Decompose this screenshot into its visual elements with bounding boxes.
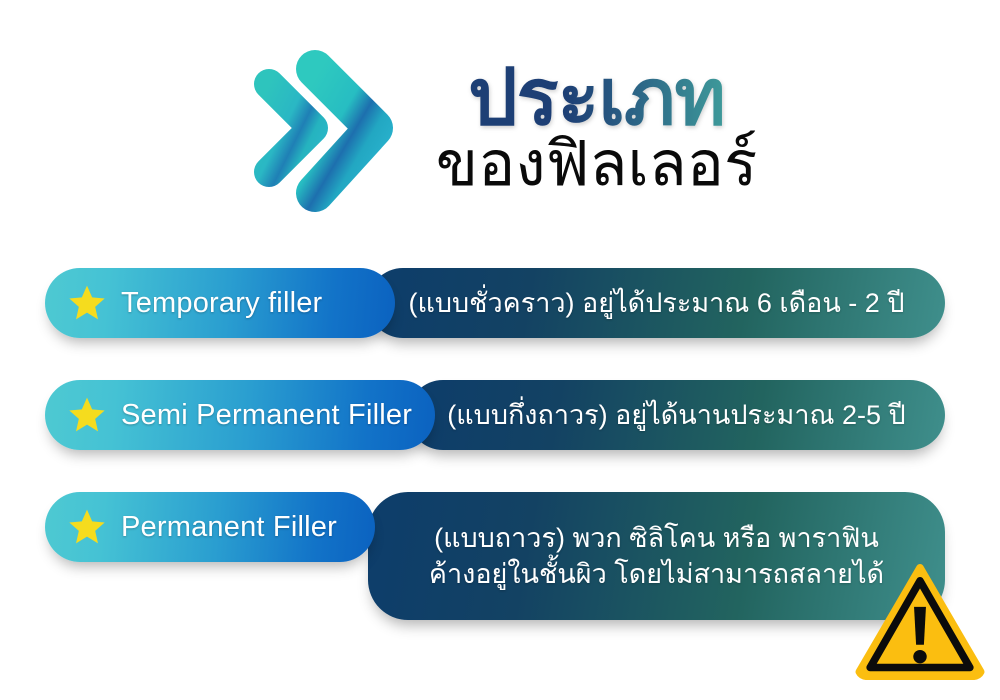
- list-item: (แบบชั่วคราว) อยู่ได้ประมาณ 6 เดือน - 2 …: [0, 248, 1000, 360]
- row-label-pill[interactable]: Semi Permanent Filler: [45, 380, 435, 450]
- row-description-panel: (แบบชั่วคราว) อยู่ได้ประมาณ 6 เดือน - 2 …: [368, 268, 945, 338]
- page-title: ประเภท: [468, 59, 725, 135]
- star-icon: [67, 395, 107, 435]
- star-icon: [67, 283, 107, 323]
- filler-type-list: (แบบชั่วคราว) อยู่ได้ประมาณ 6 เดือน - 2 …: [0, 248, 1000, 642]
- page-subtitle: ของฟิลเลอร์: [436, 132, 758, 197]
- row-label-pill[interactable]: Permanent Filler: [45, 492, 375, 562]
- row-label: Temporary filler: [121, 287, 322, 320]
- row-description: (แบบชั่วคราว) อยู่ได้ประมาณ 6 เดือน - 2 …: [409, 285, 905, 321]
- row-description: (แบบถาวร) พวก ซิลิโคน หรือ พาราฟิน ค้างอ…: [429, 520, 884, 592]
- header: ประเภท ของฟิลเลอร์: [0, 30, 1000, 230]
- list-item: (แบบกึ่งถาวร) อยู่ได้นานประมาณ 2-5 ปี Se…: [0, 360, 1000, 472]
- row-description: (แบบกึ่งถาวร) อยู่ได้นานประมาณ 2-5 ปี: [447, 397, 905, 433]
- row-label: Semi Permanent Filler: [121, 399, 412, 432]
- row-description-panel: (แบบกึ่งถาวร) อยู่ได้นานประมาณ 2-5 ปี: [408, 380, 945, 450]
- list-item: (แบบถาวร) พวก ซิลิโคน หรือ พาราฟิน ค้างอ…: [0, 472, 1000, 642]
- title-block: ประเภท ของฟิลเลอร์: [436, 59, 758, 201]
- double-chevron-logo-icon: [243, 43, 418, 218]
- row-label-pill[interactable]: Temporary filler: [45, 268, 395, 338]
- row-label: Permanent Filler: [121, 511, 337, 544]
- star-icon: [67, 507, 107, 547]
- warning-triangle-icon: [855, 563, 985, 681]
